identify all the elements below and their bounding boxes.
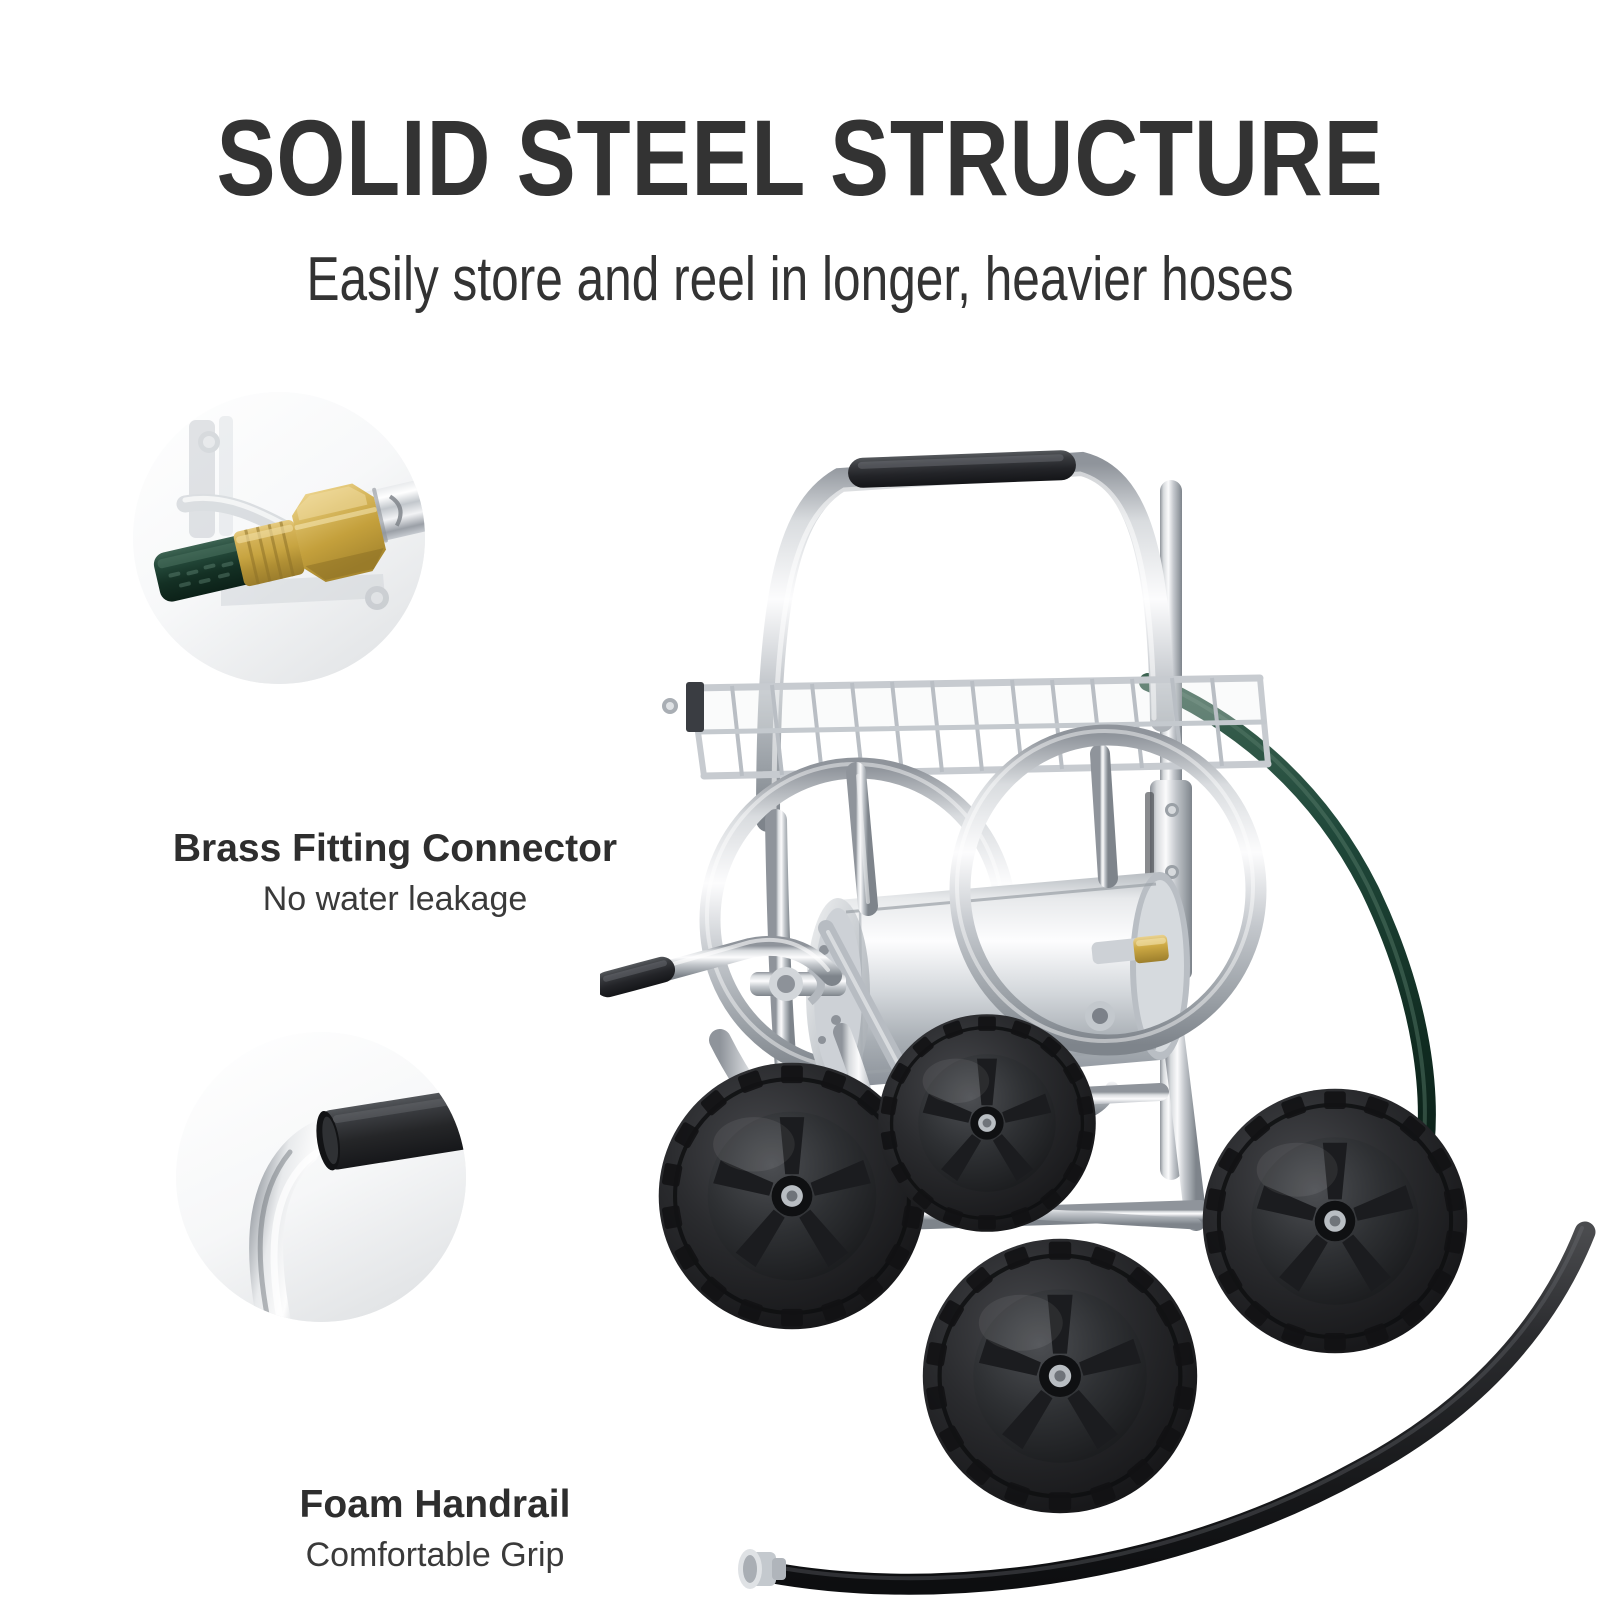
push-handle-foam-grip bbox=[848, 450, 1077, 489]
product-feature-graphic: SOLID STEEL STRUCTURE Easily store and r… bbox=[0, 0, 1600, 1600]
brass-fitting-inset-photo bbox=[133, 392, 425, 684]
page-headline: SOLID STEEL STRUCTURE bbox=[144, 104, 1456, 212]
front-center-wheel bbox=[923, 1239, 1197, 1513]
foam-handrail-inset-photo bbox=[176, 1032, 466, 1322]
rear-right-wheel bbox=[1203, 1089, 1468, 1354]
page-subheadline: Easily store and reel in longer, heavier… bbox=[160, 245, 1440, 315]
front-left-wheel bbox=[878, 1014, 1096, 1232]
product-photo-hose-reel-cart bbox=[600, 420, 1600, 1600]
